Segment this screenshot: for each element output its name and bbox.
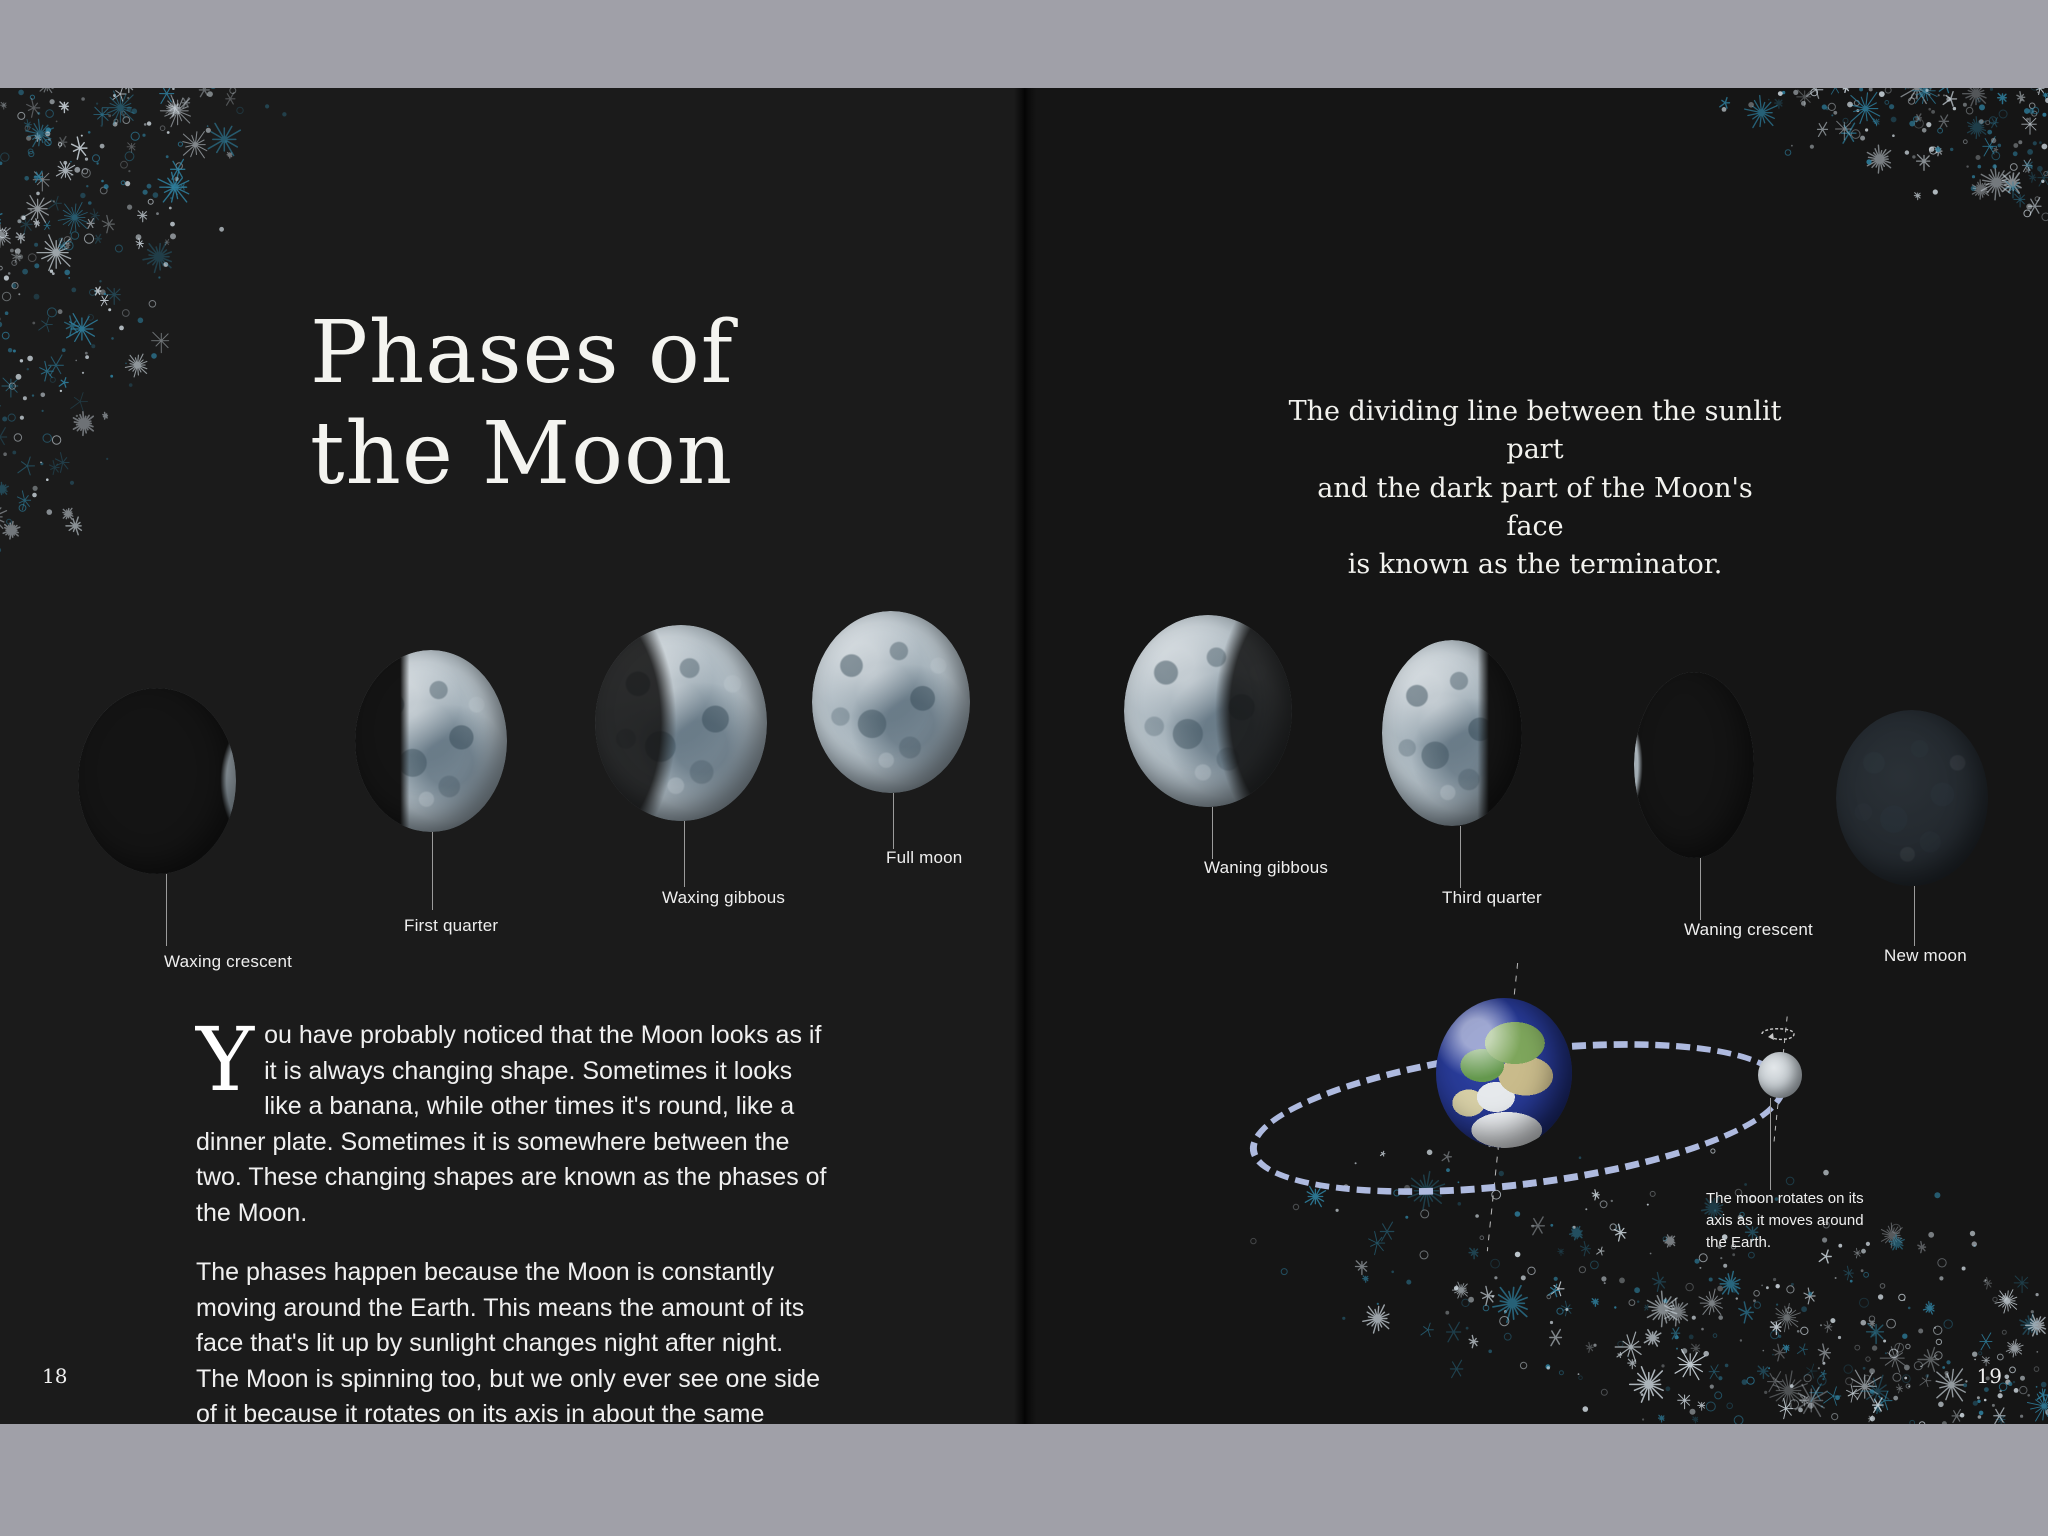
leader-line-waxing-gibbous	[684, 821, 685, 887]
screenshot-canvas: Phases of the Moon Waxing crescent First…	[0, 0, 2048, 1536]
label-waning-gibbous: Waning gibbous	[1204, 858, 1328, 878]
moon-waxing-gibbous	[595, 625, 767, 821]
moon-waxing-crescent	[78, 688, 236, 874]
label-third-quarter: Third quarter	[1442, 888, 1542, 908]
leader-line-new-moon	[1914, 886, 1915, 946]
right-page: The dividing line between the sunlit par…	[1024, 88, 2048, 1424]
leader-line-full-moon	[893, 793, 894, 849]
body-text: You have probably noticed that the Moon …	[196, 1018, 828, 1424]
label-waxing-crescent: Waxing crescent	[164, 952, 292, 972]
page-number-right: 19	[1977, 1364, 2002, 1388]
body-paragraph-1-text: ou have probably noticed that the Moon l…	[196, 1021, 827, 1227]
moon-rotation-arrow-icon	[1756, 1022, 1800, 1042]
terminator-line-2: and the dark part of the Moon's face	[1317, 473, 1753, 542]
leader-line-first-quarter	[432, 832, 433, 910]
orbit-diagram-caption: The moon rotates on its axis as it moves…	[1706, 1188, 1886, 1253]
moon-globe-icon	[1758, 1052, 1802, 1098]
body-paragraph-2: The phases happen because the Moon is co…	[196, 1255, 828, 1424]
moon-waning-crescent	[1634, 672, 1754, 858]
page-number-left: 18	[42, 1364, 67, 1388]
moon-rim	[1836, 710, 1988, 886]
leader-line-third-quarter	[1460, 826, 1461, 888]
leader-line-waning-gibbous	[1212, 807, 1213, 859]
book-spread: Phases of the Moon Waxing crescent First…	[0, 88, 2048, 1424]
moon-waning-gibbous	[1124, 615, 1292, 807]
body-paragraph-1: You have probably noticed that the Moon …	[196, 1018, 828, 1231]
terminator-line-3: is known as the terminator.	[1348, 549, 1723, 580]
earth-globe-icon	[1436, 998, 1572, 1148]
moon-rim	[595, 625, 767, 821]
leader-line-waxing-crescent	[166, 874, 167, 946]
label-waning-crescent: Waning crescent	[1684, 920, 1813, 940]
terminator-line-1: The dividing line between the sunlit par…	[1289, 396, 1782, 465]
moon-new-moon	[1836, 710, 1988, 886]
moon-rim	[355, 650, 507, 832]
earth-moon-orbit-diagram: The moon rotates on its axis as it moves…	[1240, 940, 1900, 1270]
label-first-quarter: First quarter	[404, 916, 498, 936]
terminator-caption: The dividing line between the sunlit par…	[1285, 393, 1785, 585]
moon-rim	[1382, 640, 1522, 826]
star-decoration-top-right	[1528, 88, 2048, 378]
moon-first-quarter	[355, 650, 507, 832]
moon-rim	[1634, 672, 1754, 858]
label-waxing-gibbous: Waxing gibbous	[662, 888, 785, 908]
page-title: Phases of the Moon	[310, 303, 870, 506]
leader-line-waning-crescent	[1700, 858, 1701, 920]
title-line-2: the Moon	[310, 404, 870, 505]
drop-cap: Y	[196, 1018, 264, 1096]
leader-line-orbit-caption	[1770, 1098, 1771, 1190]
moon-full-moon	[812, 611, 970, 793]
moon-rim	[812, 611, 970, 793]
moon-third-quarter	[1382, 640, 1522, 826]
moon-rim	[78, 688, 236, 874]
label-full-moon: Full moon	[886, 848, 962, 868]
left-page: Phases of the Moon Waxing crescent First…	[0, 88, 1024, 1424]
title-line-1: Phases of	[310, 303, 734, 403]
moon-rim	[1124, 615, 1292, 807]
